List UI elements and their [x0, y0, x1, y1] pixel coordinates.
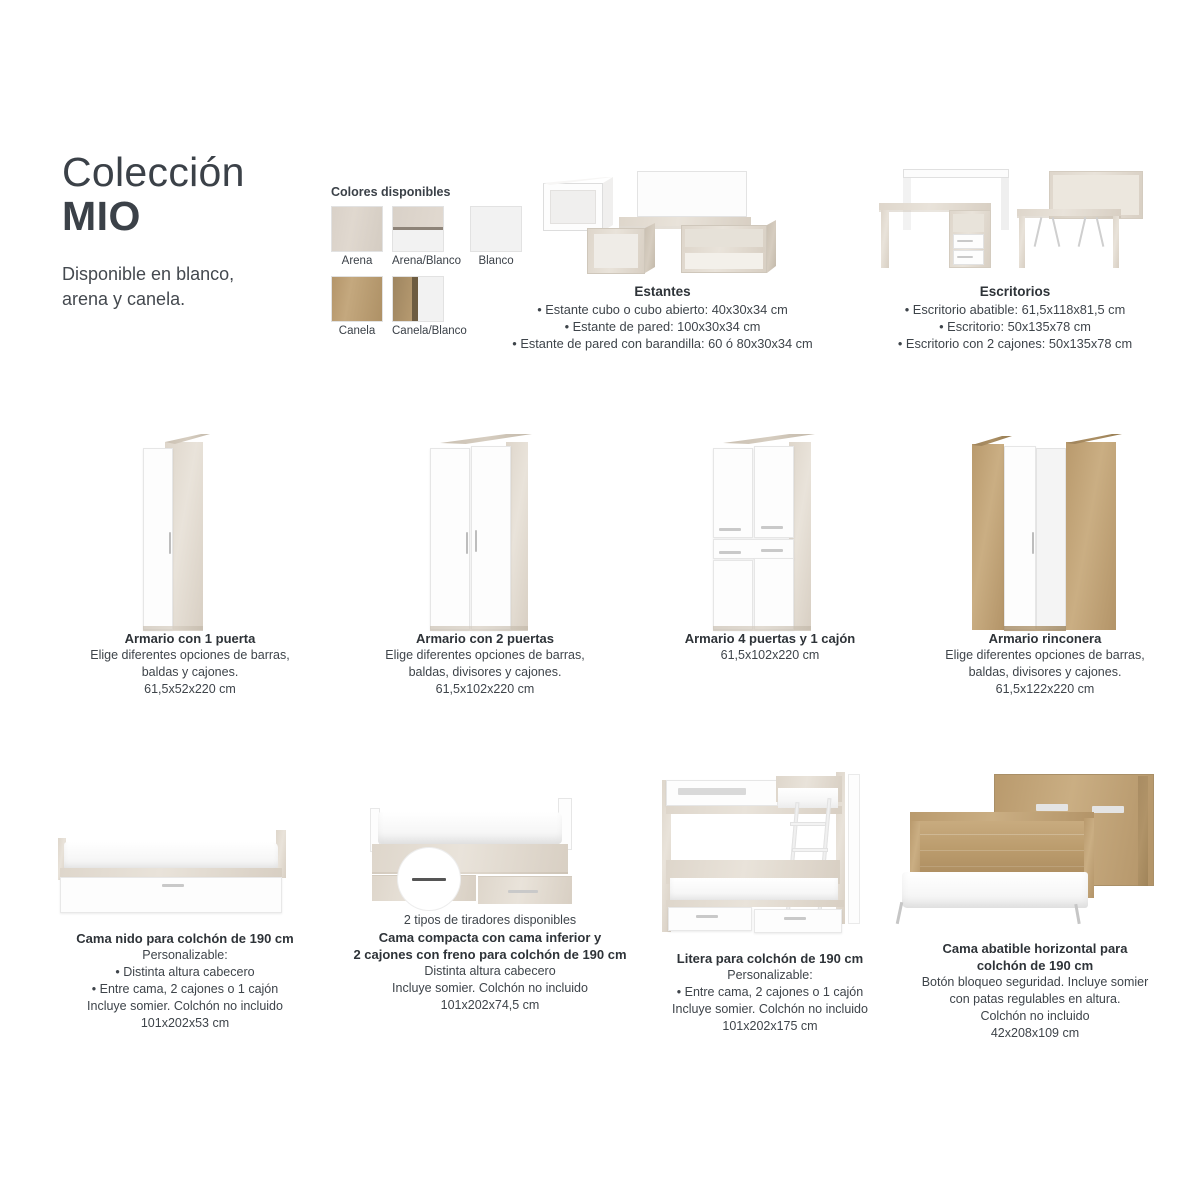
canela-blanco-swatch: [392, 276, 444, 322]
colors-available-block: Colores disponibles Arena Arena/Blanco B…: [331, 185, 506, 337]
armario-2-puertas-caption: Armario con 2 puertas Elige diferentes o…: [340, 630, 630, 698]
product-spec-line: Elige diferentes opciones de barras,: [900, 647, 1190, 664]
cama-nido-illustration: [30, 760, 340, 930]
swatch-arena-blanco[interactable]: Arena/Blanco: [392, 206, 461, 267]
product-spec-line: Elige diferentes opciones de barras,: [340, 647, 630, 664]
swatch-arena[interactable]: Arena: [331, 206, 383, 267]
product-spec-line: Incluye somier. Colchón no incluido: [330, 980, 650, 997]
product-spec-line: Personalizable:: [30, 947, 340, 964]
page-title-line1: Colección: [62, 152, 322, 194]
product-spec-line: Incluye somier. Colchón no incluido: [640, 1001, 900, 1018]
beds-row: Cama nido para colchón de 190 cm Persona…: [0, 760, 1200, 1090]
armario-rinconera-caption: Armario rinconera Elige diferentes opcio…: [900, 630, 1190, 698]
product-spec-line: • Escritorio con 2 cajones: 50x135x78 cm: [865, 335, 1165, 352]
product-spec-line: baldas, divisores y cajones.: [900, 664, 1190, 681]
product-spec-line: • Escritorio abatible: 61,5x118x81,5 cm: [865, 301, 1165, 318]
product-spec-line: baldas, divisores y cajones.: [340, 664, 630, 681]
product-title: Armario con 1 puerta: [45, 630, 335, 647]
cama-compacta-caption: 2 tipos de tiradores disponibles Cama co…: [330, 912, 650, 1014]
arena-blanco-swatch: [392, 206, 444, 252]
product-litera[interactable]: Litera para colchón de 190 cm Personaliz…: [640, 760, 900, 1035]
product-spec-line: Incluye somier. Colchón no incluido: [30, 998, 340, 1015]
swatch-label: Arena: [331, 255, 383, 267]
header-section: Colección MIO Disponible en blanco, aren…: [0, 0, 1200, 380]
page-title-line2: MIO: [62, 194, 322, 240]
collection-title-block: Colección MIO Disponible en blanco, aren…: [62, 152, 322, 311]
product-spec-line: 101x202x53 cm: [30, 1015, 340, 1032]
product-spec-line: 61,5x122x220 cm: [900, 681, 1190, 698]
product-title: Cama compacta con cama inferior y 2 cajo…: [330, 929, 650, 963]
product-spec-line: 101x202x175 cm: [640, 1018, 900, 1035]
swatch-label: Canela/Blanco: [392, 325, 467, 337]
product-title: Armario rinconera: [900, 630, 1190, 647]
armario-2-puertas-illustration: [340, 420, 630, 630]
armario-4-puertas-caption: Armario 4 puertas y 1 cajón 61,5x102x220…: [625, 630, 915, 664]
product-spec-line: • Estante cubo o cubo abierto: 40x30x34 …: [495, 301, 830, 318]
product-armario-rinconera[interactable]: Armario rinconera Elige diferentes opcio…: [900, 420, 1190, 698]
escritorios-caption: Escritorios • Escritorio abatible: 61,5x…: [865, 283, 1165, 353]
litera-caption: Litera para colchón de 190 cm Personaliz…: [640, 950, 900, 1035]
arena-swatch: [331, 206, 383, 252]
product-title: Escritorios: [865, 283, 1165, 301]
product-spec-line: • Estante de pared con barandilla: 60 ó …: [495, 335, 830, 352]
product-spec-line: 61,5x102x220 cm: [625, 647, 915, 664]
product-spec-line: 42x208x109 cm: [890, 1025, 1180, 1042]
product-spec-line: Botón bloqueo seguridad. Incluye somier: [890, 974, 1180, 991]
product-title: Litera para colchón de 190 cm: [640, 950, 900, 967]
swatch-canela-blanco[interactable]: Canela/Blanco: [392, 276, 467, 337]
product-title: Cama abatible horizontal para colchón de…: [890, 940, 1180, 974]
cama-abatible-illustration: [890, 760, 1180, 940]
product-cama-nido[interactable]: Cama nido para colchón de 190 cm Persona…: [30, 760, 340, 1032]
product-spec-line: • Entre cama, 2 cajones o 1 cajón: [30, 981, 340, 998]
canela-swatch: [331, 276, 383, 322]
product-armario-4-puertas[interactable]: Armario 4 puertas y 1 cajón 61,5x102x220…: [625, 420, 915, 664]
swatch-label: Arena/Blanco: [392, 255, 461, 267]
product-spec-line: • Estante de pared: 100x30x34 cm: [495, 318, 830, 335]
armario-4-puertas-illustration: [625, 420, 915, 630]
product-spec-line: 61,5x102x220 cm: [340, 681, 630, 698]
product-spec-line: • Distinta altura cabecero: [30, 964, 340, 981]
product-spec-line: 61,5x52x220 cm: [45, 681, 335, 698]
catalog-page: Colección MIO Disponible en blanco, aren…: [0, 0, 1200, 1200]
escritorios-illustration: [865, 165, 1165, 275]
product-title: Estantes: [495, 283, 830, 301]
cama-abatible-caption: Cama abatible horizontal para colchón de…: [890, 940, 1180, 1042]
swatch-canela[interactable]: Canela: [331, 276, 383, 337]
armario-1-puerta-illustration: [45, 420, 335, 630]
product-spec-line: con patas regulables en altura.: [890, 991, 1180, 1008]
product-spec-line: Colchón no incluido: [890, 1008, 1180, 1025]
litera-illustration: [640, 760, 900, 950]
swatch-row-1: Arena Arena/Blanco Blanco: [331, 206, 506, 267]
swatch-label: Canela: [331, 325, 383, 337]
product-spec-line: Distinta altura cabecero: [330, 963, 650, 980]
product-armario-1-puerta[interactable]: Armario con 1 puerta Elige diferentes op…: [45, 420, 335, 698]
swatch-row-2: Canela Canela/Blanco: [331, 276, 506, 337]
product-estantes[interactable]: Estantes • Estante cubo o cubo abierto: …: [495, 165, 830, 353]
product-spec-line: Personalizable:: [640, 967, 900, 984]
page-subtitle: Disponible en blanco, arena y canela.: [62, 262, 322, 312]
product-spec-line: • Escritorio: 50x135x78 cm: [865, 318, 1165, 335]
product-title: Armario 4 puertas y 1 cajón: [625, 630, 915, 647]
product-spec-line: • Entre cama, 2 cajones o 1 cajón: [640, 984, 900, 1001]
product-cama-compacta[interactable]: 2 tipos de tiradores disponibles Cama co…: [330, 760, 650, 1014]
product-spec-line: Elige diferentes opciones de barras,: [45, 647, 335, 664]
product-armario-2-puertas[interactable]: Armario con 2 puertas Elige diferentes o…: [340, 420, 630, 698]
product-escritorios[interactable]: Escritorios • Escritorio abatible: 61,5x…: [865, 165, 1165, 353]
colors-heading: Colores disponibles: [331, 185, 506, 199]
product-spec-line: baldas y cajones.: [45, 664, 335, 681]
cama-compacta-illustration: [330, 760, 650, 912]
armario-1-puerta-caption: Armario con 1 puerta Elige diferentes op…: [45, 630, 335, 698]
cama-nido-caption: Cama nido para colchón de 190 cm Persona…: [30, 930, 340, 1032]
product-spec-line: 101x202x74,5 cm: [330, 997, 650, 1014]
armario-rinconera-illustration: [900, 420, 1190, 630]
product-title: Armario con 2 puertas: [340, 630, 630, 647]
product-pretitle: 2 tipos de tiradores disponibles: [330, 912, 650, 929]
product-cama-abatible[interactable]: Cama abatible horizontal para colchón de…: [890, 760, 1180, 1042]
estantes-caption: Estantes • Estante cubo o cubo abierto: …: [495, 283, 830, 353]
product-title: Cama nido para colchón de 190 cm: [30, 930, 340, 947]
estantes-illustration: [495, 165, 830, 275]
wardrobes-row: Armario con 1 puerta Elige diferentes op…: [0, 420, 1200, 710]
